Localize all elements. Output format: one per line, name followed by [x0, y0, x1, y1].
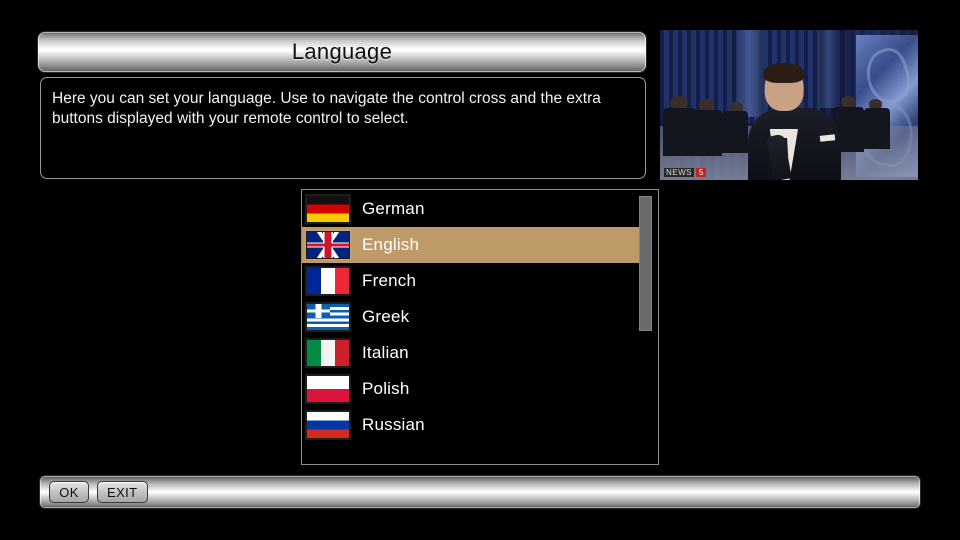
language-scrollbar-thumb[interactable]: [639, 196, 652, 331]
video-reporter-hair: [763, 63, 804, 83]
language-item-polish[interactable]: Polish: [302, 371, 642, 407]
ok-button[interactable]: OK: [49, 481, 89, 503]
video-preview[interactable]: NEWS 5: [660, 30, 918, 180]
broadcaster-logo-text: NEWS: [664, 168, 694, 177]
flag-de-icon: [306, 195, 350, 223]
flag-ru-icon: [306, 411, 350, 439]
broadcaster-logo: NEWS 5: [664, 166, 706, 178]
language-item-german[interactable]: German: [302, 191, 642, 227]
language-item-greek[interactable]: Greek: [302, 299, 642, 335]
flag-gb-icon: [306, 231, 350, 259]
flag-fr-icon: [306, 267, 350, 295]
language-scrollbar[interactable]: [639, 192, 652, 464]
bottom-action-bar: OKEXIT: [40, 476, 920, 508]
language-list-panel[interactable]: GermanEnglishFrenchGreekItalianPolishRus…: [301, 189, 659, 465]
language-item-italian[interactable]: Italian: [302, 335, 642, 371]
language-item-label: Polish: [362, 379, 410, 399]
language-item-english[interactable]: English: [302, 227, 642, 263]
language-item-label: French: [362, 271, 416, 291]
language-item-label: Russian: [362, 415, 425, 435]
exit-button[interactable]: EXIT: [97, 481, 148, 503]
language-item-label: Greek: [362, 307, 409, 327]
language-item-french[interactable]: French: [302, 263, 642, 299]
title-bar: Language: [38, 32, 646, 72]
video-frame: [660, 30, 918, 180]
broadcaster-logo-mark: 5: [696, 168, 706, 177]
flag-gr-icon: [306, 303, 350, 331]
help-text: Here you can set your language. Use to n…: [52, 89, 633, 129]
flag-it-icon: [306, 339, 350, 367]
language-item-russian[interactable]: Russian: [302, 407, 642, 443]
flag-pl-icon: [306, 375, 350, 403]
language-item-label: German: [362, 199, 425, 219]
page-title: Language: [292, 39, 392, 65]
language-item-label: Italian: [362, 343, 409, 363]
language-list[interactable]: GermanEnglishFrenchGreekItalianPolishRus…: [302, 191, 642, 443]
language-item-label: English: [362, 235, 419, 255]
help-panel: Here you can set your language. Use to n…: [40, 77, 646, 179]
